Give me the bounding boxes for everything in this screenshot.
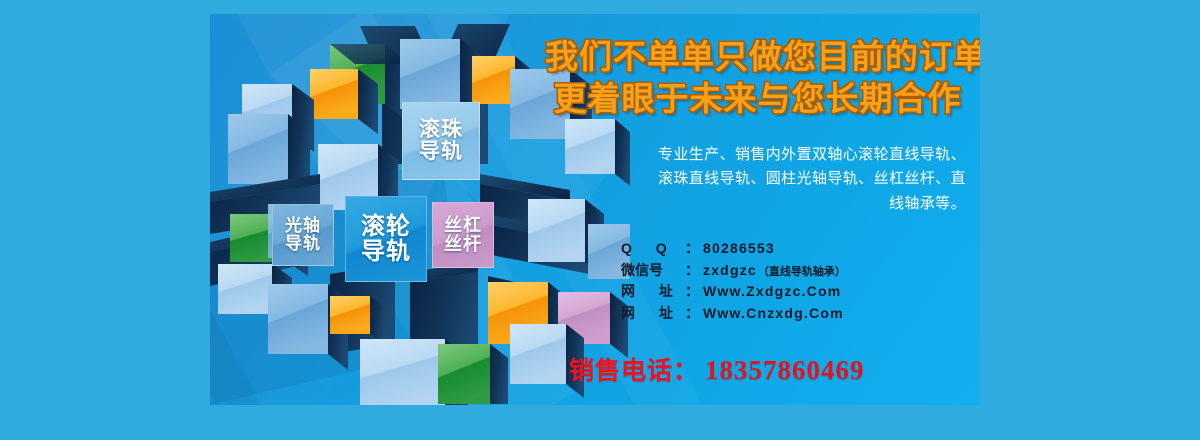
- contact-value-website-1[interactable]: Www.Zxdgzc.Com: [703, 281, 841, 303]
- sales-phone-number[interactable]: 18357860469: [705, 355, 865, 386]
- cube-label-guangzhou-daogui: 光轴 导轨: [272, 204, 334, 266]
- cube-label-line: 丝杠: [444, 216, 482, 235]
- contact-colon: ：: [685, 303, 699, 325]
- banner-copy: 我们不单单只做您目前的订单 更着眼于未来与您长期合作 专业生产、销售内外置双轴心…: [545, 36, 970, 386]
- sales-phone-label: 销售电话：: [569, 351, 699, 387]
- page-root: 滚珠 导轨 光轴 导轨 滚轮 导轨 丝杠 丝杆 我们不单单只做您目前的订单 更着…: [0, 0, 1200, 440]
- cube-label-line: 滚轮: [361, 214, 411, 239]
- cube-label-gunlun-daogui: 滚轮 导轨: [345, 196, 427, 282]
- contact-row-wechat: 微信号 ： zxdgzc （直线导轨轴承）: [621, 260, 970, 282]
- cube-label-line: 丝杆: [444, 235, 482, 254]
- contact-row-website-1: 网 址 ： Www.Zxdgzc.Com: [621, 281, 970, 303]
- banner-headline: 我们不单单只做您目前的订单 更着眼于未来与您长期合作: [545, 36, 970, 119]
- headline-line-2: 更着眼于未来与您长期合作: [545, 78, 970, 120]
- description-line-3: 线轴承等。: [545, 192, 966, 216]
- cube-label-sigang-sigan: 丝杠 丝杆: [432, 202, 494, 268]
- headline-line-1: 我们不单单只做您目前的订单: [545, 36, 970, 78]
- description-line-2: 滚珠直线导轨、圆柱光轴导轨、丝杠丝杆、直: [545, 167, 966, 191]
- sales-phone: 销售电话： 18357860469: [545, 351, 970, 387]
- contact-row-website-2: 网 址 ： Www.Cnzxdg.Com: [621, 303, 970, 325]
- contact-key: 网 址: [621, 303, 685, 325]
- cube-label-line: 滚珠: [419, 119, 463, 141]
- cube-label-gunzhu-daogui: 滚珠 导轨: [402, 102, 480, 180]
- contact-colon: ：: [685, 238, 699, 260]
- cube-label-line: 导轨: [419, 141, 463, 163]
- description-line-1: 专业生产、销售内外置双轴心滚轮直线导轨、: [545, 143, 966, 167]
- contact-key: Q Q: [621, 238, 685, 260]
- contact-value-website-2[interactable]: Www.Cnzxdg.Com: [703, 303, 844, 325]
- banner-description: 专业生产、销售内外置双轴心滚轮直线导轨、 滚珠直线导轨、圆柱光轴导轨、丝杠丝杆、…: [545, 143, 970, 216]
- contact-colon: ：: [685, 260, 699, 282]
- contact-colon: ：: [685, 281, 699, 303]
- contact-value-qq[interactable]: 80286553: [703, 238, 775, 260]
- contact-key: 微信号: [621, 260, 685, 282]
- contact-row-qq: Q Q ： 80286553: [621, 238, 970, 260]
- contact-key: 网 址: [621, 281, 685, 303]
- contact-value-wechat[interactable]: zxdgzc: [703, 260, 757, 282]
- contact-block: Q Q ： 80286553 微信号 ： zxdgzc （直线导轨轴承） 网 址…: [545, 238, 970, 325]
- cube-label-line: 导轨: [361, 239, 411, 264]
- cube-label-line: 光轴: [285, 217, 321, 235]
- cube-label-line: 导轨: [285, 235, 321, 253]
- promo-banner: 滚珠 导轨 光轴 导轨 滚轮 导轨 丝杠 丝杆 我们不单单只做您目前的订单 更着…: [210, 14, 980, 405]
- contact-note-wechat: （直线导轨轴承）: [758, 264, 846, 281]
